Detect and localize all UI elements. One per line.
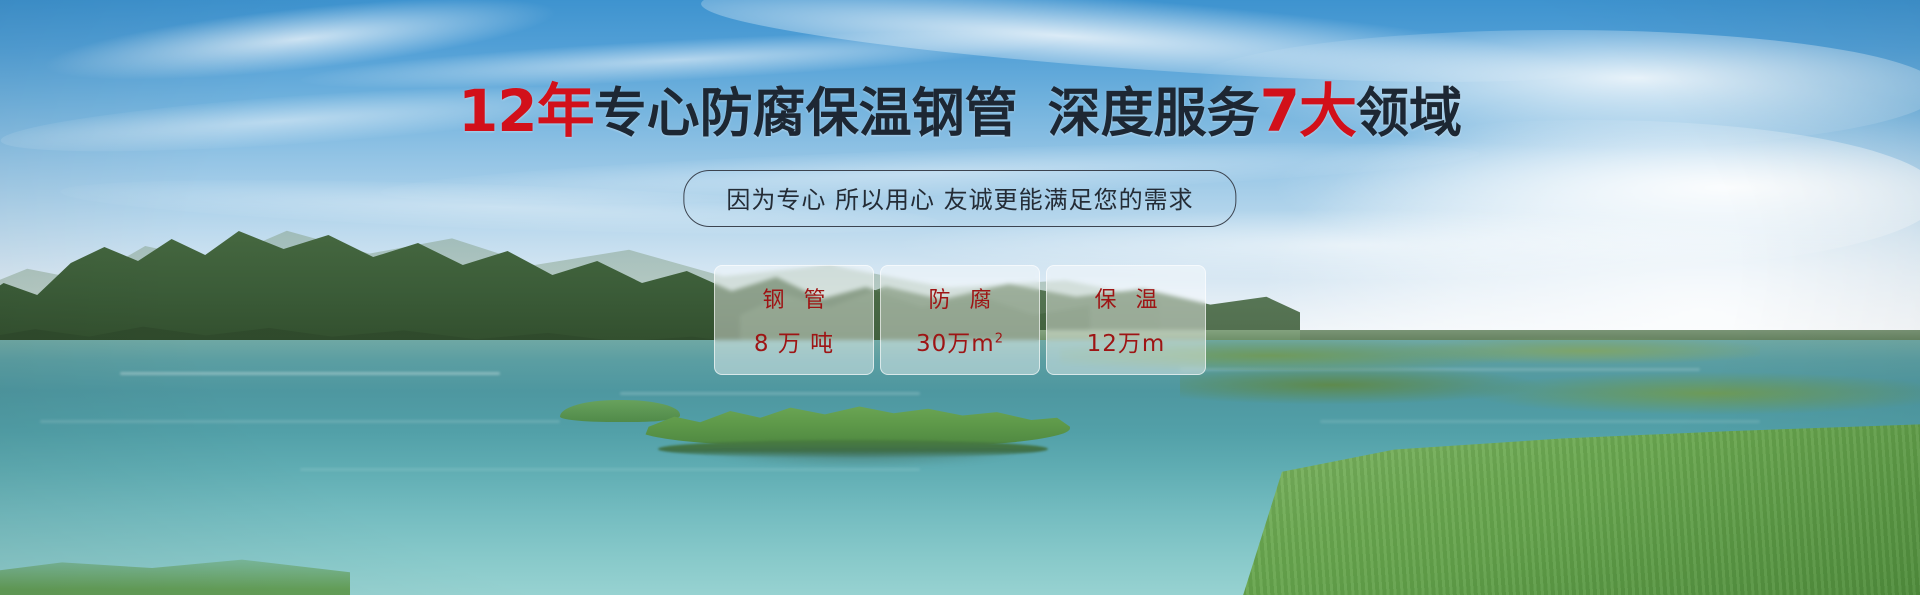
stat-value-main: 8 万 吨: [754, 331, 834, 357]
headline-主体: 专心防腐保温钢管: [594, 83, 1018, 144]
headline: 12年专心防腐保温钢管深度服务7大领域: [0, 82, 1920, 140]
headline-service: 深度服务: [1048, 83, 1260, 144]
stats-row: 钢 管 8 万 吨 防 腐 30万m2 保 温 12万m: [714, 265, 1206, 375]
headline-count: 7大: [1260, 77, 1356, 145]
stat-title: 保 温: [1089, 282, 1164, 314]
stat-value-superscript: 2: [995, 331, 1004, 346]
stat-value-main: 12万m: [1087, 331, 1166, 357]
promo-banner: 12年专心防腐保温钢管深度服务7大领域 因为专心 所以用心 友诚更能满足您的需求…: [0, 0, 1920, 595]
tagline-pill: 因为专心 所以用心 友诚更能满足您的需求: [683, 170, 1236, 227]
stat-card-insulation: 保 温 12万m: [1046, 265, 1206, 375]
headline-years: 12年: [458, 77, 594, 145]
headline-fields: 领域: [1356, 83, 1462, 144]
stat-card-anticorrosion: 防 腐 30万m2: [880, 265, 1040, 375]
stat-value-main: 30万m: [916, 331, 995, 357]
stat-value: 8 万 吨: [754, 324, 834, 358]
stat-value: 30万m2: [916, 324, 1004, 358]
banner-content: 12年专心防腐保温钢管深度服务7大领域 因为专心 所以用心 友诚更能满足您的需求…: [0, 0, 1920, 595]
stat-value: 12万m: [1087, 324, 1166, 358]
stat-title: 钢 管: [757, 282, 832, 314]
stat-title: 防 腐: [923, 282, 998, 314]
stat-card-steel-pipe: 钢 管 8 万 吨: [714, 265, 874, 375]
